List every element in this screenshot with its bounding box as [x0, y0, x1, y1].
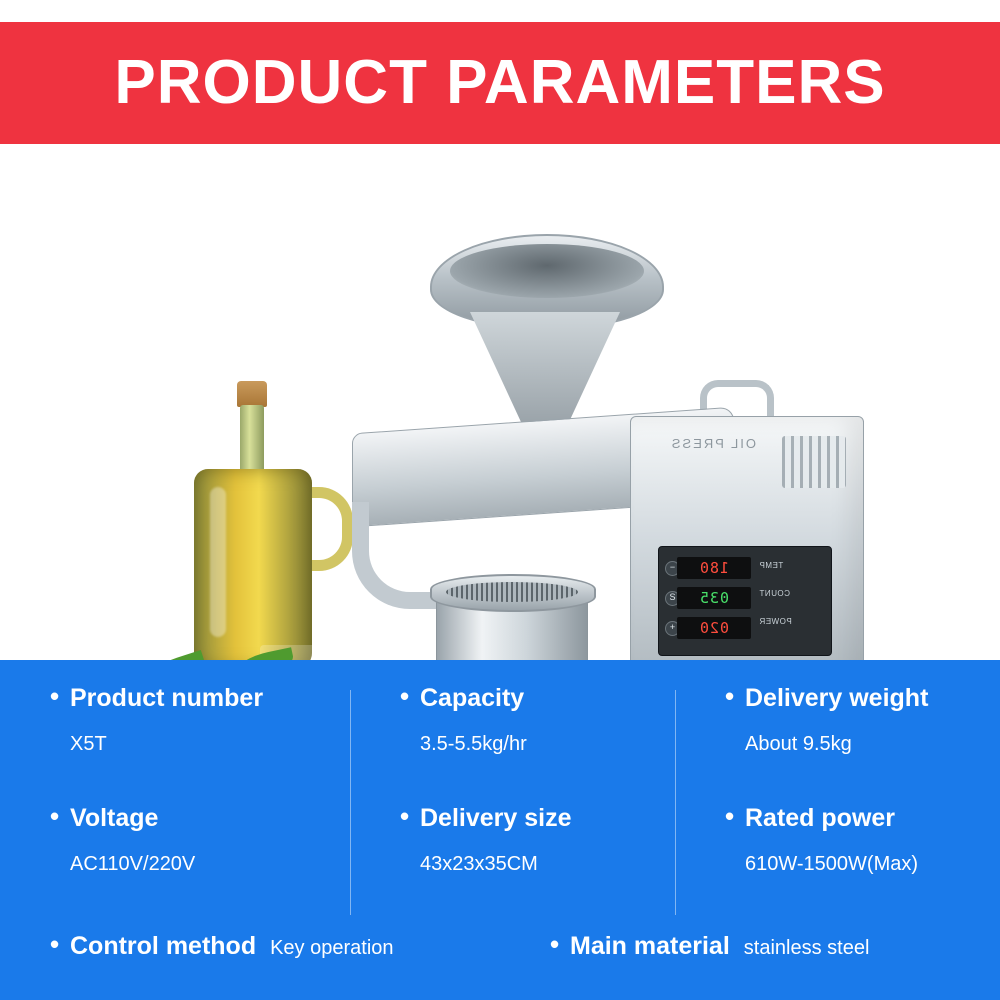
temp-label: TEMP [759, 561, 783, 570]
count-label: COUNT [759, 589, 790, 598]
control-panel: − S + 180 035 020 TEMP COUNT POWER [658, 546, 832, 656]
spec-bottom-row: Control method Key operation Main materi… [0, 916, 1000, 1000]
spec-voltage: Voltage AC110V/220V [0, 780, 350, 900]
power-label: POWER [759, 617, 792, 626]
oil-filter-cup [430, 574, 596, 612]
count-display: 035 [677, 587, 751, 609]
spec-value: stainless steel [744, 937, 870, 960]
spec-value: About 9.5kg [745, 733, 1000, 756]
spec-label: Delivery size [420, 806, 675, 831]
temp-display: 180 [677, 557, 751, 579]
product-photo-area: OIL PRESS − S + 180 035 020 TEMP COUNT P… [0, 144, 1000, 660]
spec-label: Rated power [745, 806, 1000, 831]
spec-main-material: Main material stainless steel [520, 916, 1000, 960]
spec-label: Delivery weight [745, 686, 1000, 711]
spec-label: Product number [70, 686, 350, 711]
bottle-cork-icon [237, 381, 267, 407]
machine-vent-grille [782, 436, 846, 488]
hopper-cone [470, 312, 620, 422]
spec-label: Main material [570, 934, 730, 959]
spec-control-method: Control method Key operation [0, 916, 520, 960]
bottle-body [194, 469, 312, 669]
spec-capacity: Capacity 3.5-5.5kg/hr [350, 660, 675, 780]
spec-label: Control method [70, 934, 256, 959]
spec-value: Key operation [270, 937, 393, 960]
spec-value: 610W-1500W(Max) [745, 853, 1000, 876]
spec-label: Voltage [70, 806, 350, 831]
page-title: PRODUCT PARAMETERS [0, 22, 1000, 144]
hopper-inner [450, 244, 644, 298]
spec-value: 43x23x35CM [420, 853, 675, 876]
spec-value: AC110V/220V [70, 853, 350, 876]
spec-delivery-size: Delivery size 43x23x35CM [350, 780, 675, 900]
product-parameters-page: PRODUCT PARAMETERS [0, 0, 1000, 1000]
spec-delivery-weight: Delivery weight About 9.5kg [675, 660, 1000, 780]
machine-brand-text: OIL PRESS [660, 436, 756, 454]
bottle-neck [240, 405, 264, 477]
spec-product-number: Product number X5T [0, 660, 350, 780]
spec-rated-power: Rated power 610W-1500W(Max) [675, 780, 1000, 900]
spec-value: X5T [70, 733, 350, 756]
spec-label: Capacity [420, 686, 675, 711]
power-display: 020 [677, 617, 751, 639]
spec-value: 3.5-5.5kg/hr [420, 733, 675, 756]
filter-mesh [446, 582, 578, 602]
